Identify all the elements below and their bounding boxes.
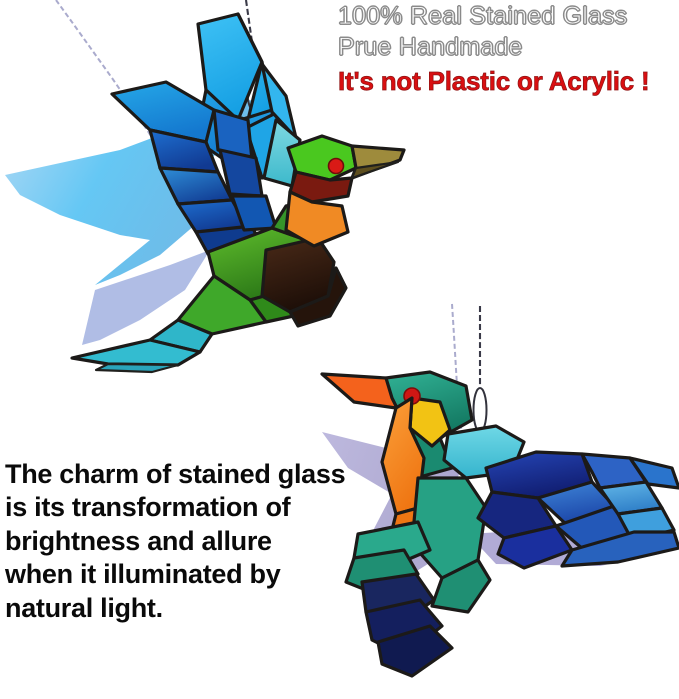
glass-panels-bottom (322, 372, 679, 676)
suncatcher-hummingbird-bottom (300, 282, 679, 682)
description-line-2: is its transformation of (5, 491, 345, 524)
promo-alert-line: It's not Plastic or Acrylic ! (338, 67, 679, 96)
description-line-4: when it illuminated by (5, 558, 345, 591)
description-line-5: natural light. (5, 592, 345, 625)
promo-text-block: 100% Real Stained Glass Prue Handmade It… (338, 2, 679, 96)
description-line-1: The charm of stained glass (5, 458, 345, 491)
product-image-canvas: 100% Real Stained Glass Prue Handmade It… (0, 0, 679, 699)
promo-line-1: 100% Real Stained Glass (338, 2, 679, 30)
promo-line-2: Prue Handmade (338, 33, 679, 61)
description-line-3: brightness and allure (5, 525, 345, 558)
description-text-block: The charm of stained glass is its transf… (5, 458, 345, 625)
